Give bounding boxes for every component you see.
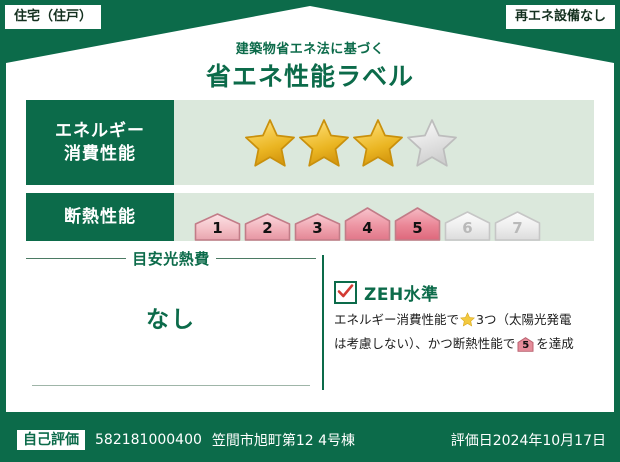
label-footer: 自己評価 582181000400 笠間市旭町第12 4号棟 評価日2024年1… (0, 418, 620, 462)
insulation-level-number: 1 (194, 219, 241, 237)
zeh-desc-2b: を達成 (536, 334, 574, 353)
self-evaluation-badge: 自己評価 (16, 429, 86, 451)
zeh-header: ZEH水準 (334, 280, 604, 305)
energy-performance-label: 住宅（住戸） 再エネ設備なし 建築物省エネ法に基づく 省エネ性能ラベル エネルギ… (0, 0, 620, 462)
insulation-level-2: 2 (244, 213, 291, 241)
zeh-description-line1: エネルギー消費性能で 3つ（太陽光発電 (334, 310, 604, 329)
star-empty-icon (406, 117, 458, 169)
insulation-level-number: 2 (244, 219, 291, 237)
insulation-level-number: 6 (444, 219, 491, 237)
vertical-divider (322, 255, 324, 390)
insulation-level-number: 4 (344, 219, 391, 237)
rule-left (26, 258, 126, 259)
zeh-desc-2a: は考慮しない）、かつ断熱性能で (334, 334, 515, 353)
star-rating (174, 117, 458, 169)
zeh-checkbox[interactable] (334, 281, 357, 304)
evaluation-date: 評価日2024年10月17日 (451, 430, 606, 450)
zeh-description-line2: は考慮しない）、かつ断熱性能で 5 を達成 (334, 334, 604, 353)
utility-cost-bottom-rule (32, 385, 310, 386)
rule-right (216, 258, 316, 259)
insulation-level-7: 7 (494, 211, 541, 241)
zeh-desc-1a: エネルギー消費性能で (334, 310, 459, 329)
zeh-desc-1b: 3つ（太陽光発電 (476, 310, 571, 329)
evaluation-id: 582181000400 (95, 432, 202, 448)
insulation-label-text: 断熱性能 (64, 206, 136, 229)
building-type-chip: 住宅（住戸） (4, 4, 102, 30)
star-filled-icon (298, 117, 350, 169)
energy-performance-value (174, 100, 594, 185)
insulation-performance-row: 断熱性能 1234567 (26, 193, 594, 241)
label-title: 省エネ性能ラベル (0, 57, 620, 93)
property-address: 笠間市旭町第12 4号棟 (212, 430, 355, 450)
energy-label-line2: 消費性能 (64, 143, 136, 166)
energy-label-line1: エネルギー (55, 120, 145, 143)
utility-cost-heading: 目安光熱費 (26, 248, 316, 269)
insulation-level-number: 3 (294, 219, 341, 237)
energy-performance-row: エネルギー 消費性能 (26, 100, 594, 185)
insulation-level-6: 6 (444, 211, 491, 241)
insulation-level-5: 5 (394, 207, 441, 241)
insulation-performance-value: 1234567 (174, 193, 594, 241)
insulation-level-1: 1 (194, 213, 241, 241)
star-filled-icon (352, 117, 404, 169)
renewable-energy-chip: 再エネ設備なし (505, 4, 616, 30)
utility-cost-value: なし (26, 300, 316, 334)
inline-house-number: 5 (517, 338, 534, 354)
inline-house-icon: 5 (517, 337, 534, 352)
zeh-title: ZEH水準 (364, 280, 439, 305)
insulation-level-number: 7 (494, 219, 541, 237)
insulation-level-3: 3 (294, 213, 341, 241)
label-subtitle: 建築物省エネ法に基づく (0, 38, 620, 57)
zeh-section: ZEH水準 エネルギー消費性能で 3つ（太陽光発電 は考慮しない）、かつ断熱性能… (334, 280, 604, 354)
insulation-level-scale: 1234567 (174, 193, 541, 241)
inline-star-icon (460, 312, 475, 327)
energy-performance-label-box: エネルギー 消費性能 (26, 100, 174, 185)
insulation-level-4: 4 (344, 207, 391, 241)
insulation-level-number: 5 (394, 219, 441, 237)
insulation-performance-label-box: 断熱性能 (26, 193, 174, 241)
utility-cost-heading-text: 目安光熱費 (132, 248, 210, 269)
star-filled-icon (244, 117, 296, 169)
